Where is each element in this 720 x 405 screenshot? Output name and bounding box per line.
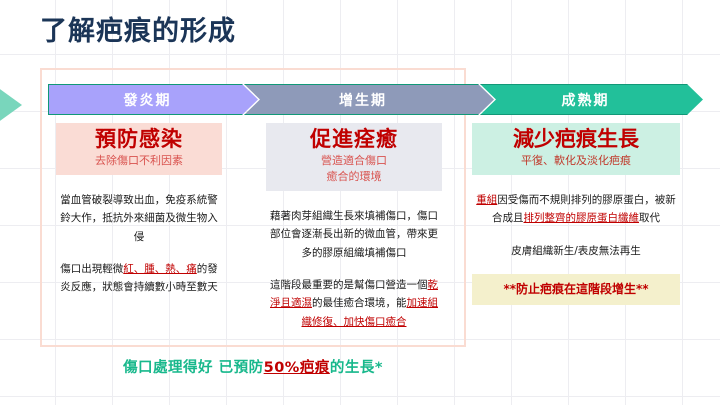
paragraph: 傷口出現輕微紅、腫、熱、痛的發炎反應，狀態會持續數小時至數天	[56, 260, 222, 297]
phase-chevron-maturation[interactable]: 成熟期	[480, 84, 703, 115]
text-run: 的最佳癒合環境，能	[312, 297, 407, 309]
column-header-box-1: 預防感染 去除傷口不利因素	[56, 123, 222, 175]
text-run: 皮膚組織新生/表皮無法再生	[511, 245, 641, 257]
text-run: 傷口出現輕微	[60, 263, 123, 275]
phase-label-maturation: 成熟期	[562, 90, 610, 110]
highlight-run: 排列整齊的膠原蛋白纖維	[524, 212, 640, 224]
paragraph: 重組因受傷而不規則排列的膠原蛋白，被新合成且排列整齊的膠原蛋白纖維取代	[472, 191, 680, 228]
highlight-run: 紅、腫、熱、痛	[123, 263, 197, 275]
column-heading-1: 預防感染	[60, 128, 218, 150]
footer-emphasis: 50%疤痕	[264, 360, 330, 376]
paragraph: 皮膚組織新生/表皮無法再生	[472, 242, 680, 260]
phase-column-maturation: 減少疤痕生長 平復、軟化及淡化疤痕 重組因受傷而不規則排列的膠原蛋白，被新合成且…	[472, 123, 680, 305]
column-body-2: 藉著肉芽組織生長來填補傷口，傷口部位會逐漸長出新的微血管，帶來更多的膠原組織填補…	[266, 207, 442, 331]
phase-column-inflammation: 預防感染 去除傷口不利因素 當血管破裂導致出血，免疫系統警鈴大作，抵抗外來細菌及…	[56, 123, 222, 297]
slide-canvas: 了解疤痕的形成 發炎期 增生期 成熟期 預防感染 去除傷口不利因素 當血管破裂導…	[0, 0, 720, 405]
text-run: 取代	[639, 212, 660, 224]
text-run: 當血管破裂導致出血，免疫系統警鈴大作，抵抗外來細菌及微生物入侵	[60, 194, 218, 243]
phase-column-proliferation: 促進痊癒 營造適合傷口 癒合的環境 藉著肉芽組織生長來填補傷口，傷口部位會逐漸長…	[266, 123, 442, 331]
paragraph: 這階段最重要的是幫傷口營造一個乾淨且適濕的最佳癒合環境，能加速組織修復、加快傷口…	[266, 276, 442, 331]
column-caption-2: 營造適合傷口 癒合的環境	[270, 153, 438, 185]
footer-prefix: 傷口處理得好 已預防	[123, 360, 264, 376]
phase-chevron-proliferation[interactable]: 增生期	[244, 84, 494, 115]
highlight-run: 重組	[476, 194, 497, 206]
column-heading-2: 促進痊癒	[270, 128, 438, 150]
phase-chevron-band: 發炎期 增生期 成熟期	[48, 84, 703, 115]
column-body-1: 當血管破裂導致出血，免疫系統警鈴大作，抵抗外來細菌及微生物入侵 傷口出現輕微紅、…	[56, 191, 222, 297]
page-title: 了解疤痕的形成	[40, 18, 236, 45]
caption-line: 營造適合傷口	[270, 153, 438, 169]
column-caption-1: 去除傷口不利因素	[60, 153, 218, 169]
column-heading-3: 減少疤痕生長	[476, 128, 676, 150]
footer-note: 傷口處理得好 已預防50%疤痕的生長*	[40, 356, 466, 377]
column-caption-3: 平復、軟化及淡化疤痕	[476, 153, 676, 169]
paragraph: 藉著肉芽組織生長來填補傷口，傷口部位會逐漸長出新的微血管，帶來更多的膠原組織填補…	[266, 207, 442, 262]
phase-label-inflammation: 發炎期	[124, 90, 172, 110]
phase-label-proliferation: 增生期	[339, 90, 387, 110]
column-body-3: 重組因受傷而不規則排列的膠原蛋白，被新合成且排列整齊的膠原蛋白纖維取代 皮膚組織…	[472, 191, 680, 305]
paragraph: 當血管破裂導致出血，免疫系統警鈴大作，抵抗外來細菌及微生物入侵	[56, 191, 222, 246]
column-header-box-3: 減少疤痕生長 平復、軟化及淡化疤痕	[472, 123, 680, 175]
warning-highlight-box: **防止疤痕在這階段增生**	[472, 274, 680, 305]
text-run: 藉著肉芽組織生長來填補傷口，傷口部位會逐漸長出新的微血管，帶來更多的膠原組織填補…	[270, 210, 438, 259]
caption-line: 癒合的環境	[270, 169, 438, 185]
phase-chevron-inflammation[interactable]: 發炎期	[48, 84, 258, 115]
footer-suffix: 的生長*	[330, 360, 383, 376]
text-run: 這階段最重要的是幫傷口營造一個	[270, 279, 428, 291]
teal-triangle-icon	[0, 79, 22, 131]
column-header-box-2: 促進痊癒 營造適合傷口 癒合的環境	[266, 123, 442, 191]
